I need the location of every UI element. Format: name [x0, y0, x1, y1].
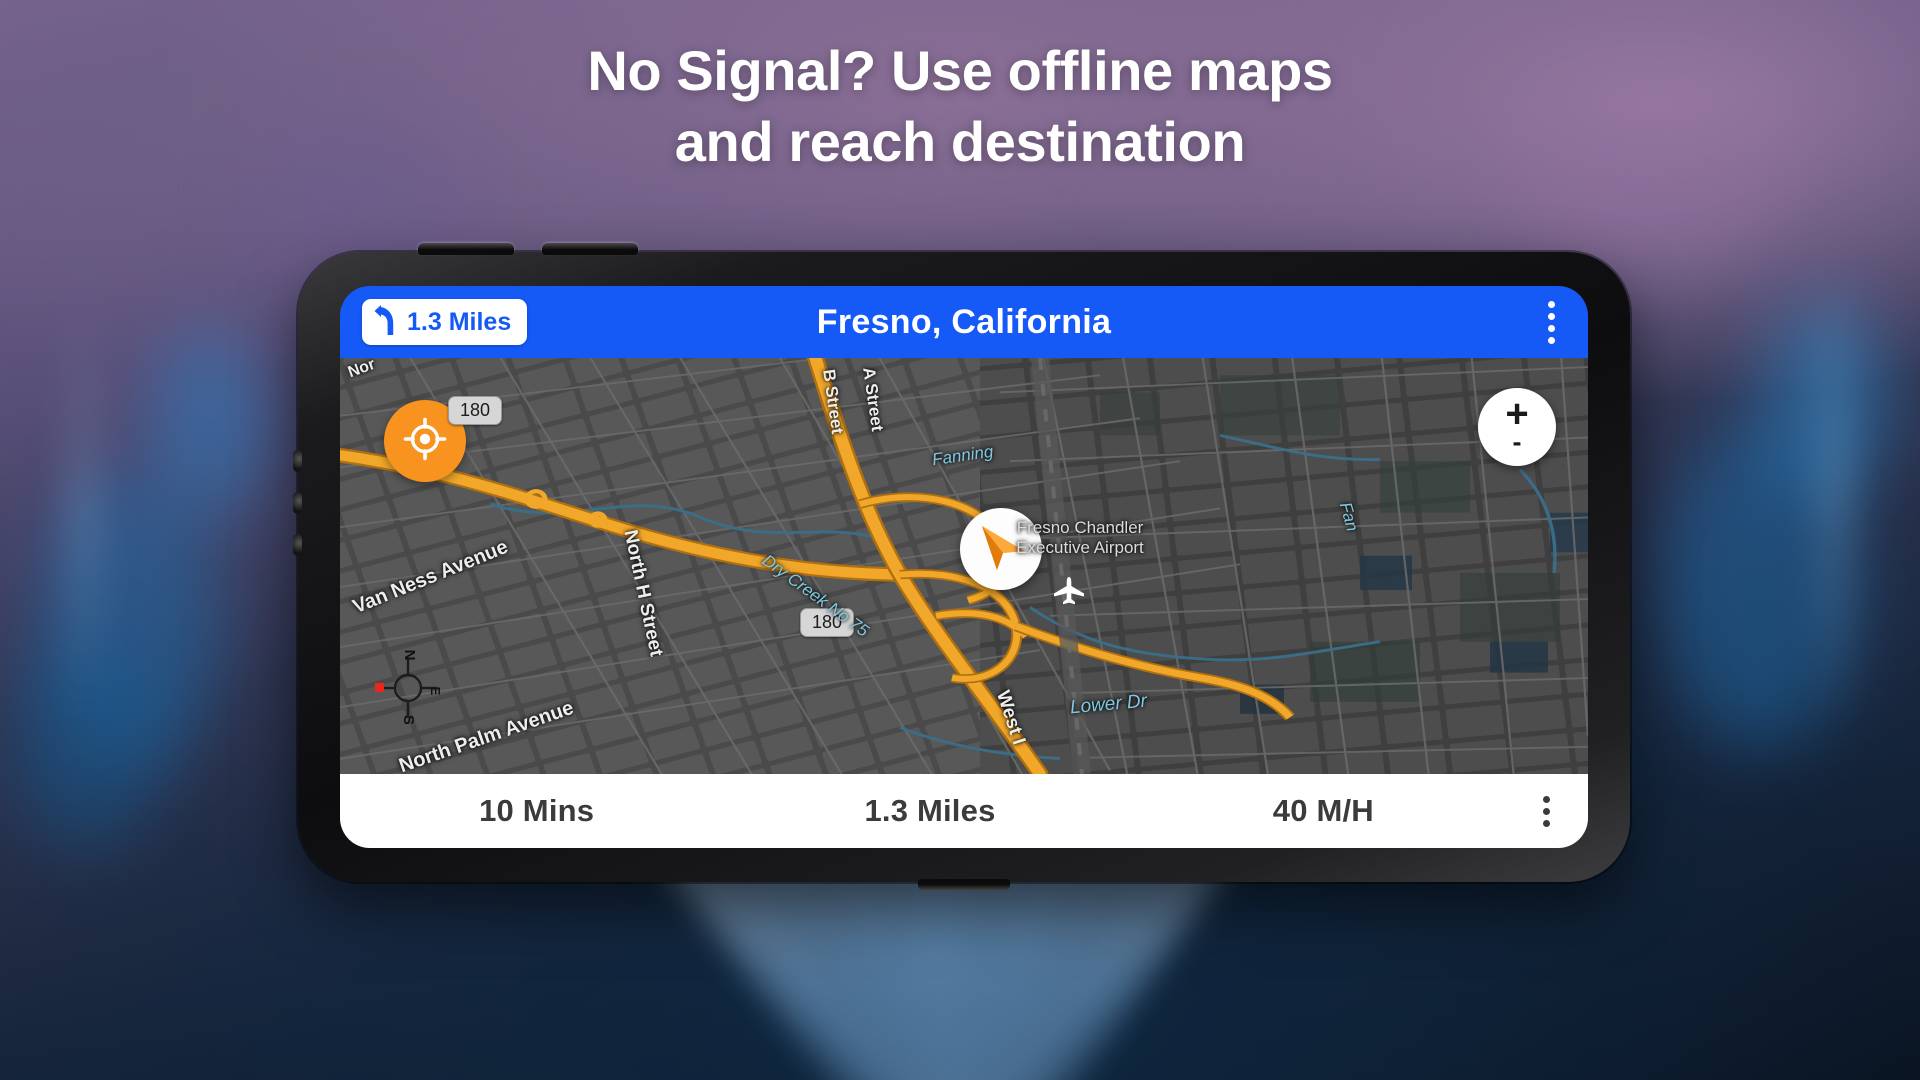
gps-crosshair-icon: [403, 417, 447, 466]
app-top-bar: 1.3 Miles Fresno, California: [340, 286, 1588, 358]
stat-current-speed: 40 M/H: [1127, 793, 1520, 829]
airplane-icon: [1052, 576, 1086, 611]
highway-shield: 180: [800, 608, 854, 637]
page-title: Fresno, California: [340, 303, 1588, 342]
phone-screen: 1.3 Miles Fresno, California: [340, 286, 1588, 848]
phone-bottom-nub: [918, 879, 1010, 891]
map-zoom-control[interactable]: + -: [1478, 388, 1556, 466]
phone-power-button[interactable]: [293, 534, 302, 556]
more-vert-icon-dot: [1548, 301, 1555, 308]
navigation-arrow-icon: [974, 520, 1028, 579]
zoom-out-button[interactable]: -: [1513, 430, 1522, 454]
highway-shield: 180: [448, 396, 502, 425]
stat-remaining-distance: 1.3 Miles: [733, 793, 1126, 829]
phone-mockup: 1.3 Miles Fresno, California: [298, 252, 1630, 882]
next-turn-distance-badge[interactable]: 1.3 Miles: [362, 299, 527, 345]
more-vert-icon-dot: [1548, 325, 1555, 332]
zoom-in-button[interactable]: +: [1505, 399, 1528, 430]
headline-line-1: No Signal? Use offline maps: [0, 36, 1920, 107]
trip-stats-bar: 10 Mins 1.3 Miles 40 M/H: [340, 774, 1588, 848]
phone-volume-down-button[interactable]: [293, 492, 302, 514]
more-vert-icon-dot: [1543, 796, 1550, 803]
svg-text:E: E: [428, 687, 441, 696]
promo-headline: No Signal? Use offline maps and reach de…: [0, 36, 1920, 177]
more-vert-icon-dot: [1548, 337, 1555, 344]
svg-text:S: S: [400, 715, 417, 724]
phone-speaker-nub: [542, 243, 638, 255]
stats-bar-overflow-menu-button[interactable]: [1520, 781, 1574, 841]
svg-text:N: N: [401, 650, 418, 661]
stat-eta: 10 Mins: [340, 793, 733, 829]
more-vert-icon-dot: [1543, 820, 1550, 827]
light-streak: [1820, 260, 1850, 730]
phone-camera-nub: [418, 243, 514, 255]
compass-rose[interactable]: N S E: [375, 648, 441, 724]
more-vert-icon-dot: [1548, 313, 1555, 320]
app-bar-overflow-menu-button[interactable]: [1530, 296, 1572, 348]
map-canvas[interactable]: + - 180 180: [340, 358, 1588, 774]
next-turn-distance-label: 1.3 Miles: [407, 308, 511, 337]
vehicle-position-marker: [960, 508, 1042, 590]
more-vert-icon-dot: [1543, 808, 1550, 815]
bokeh-light: [150, 330, 270, 520]
turn-slight-left-icon: [372, 304, 398, 341]
headline-line-2: and reach destination: [0, 107, 1920, 178]
phone-volume-up-button[interactable]: [293, 450, 302, 472]
light-streak: [70, 300, 96, 720]
